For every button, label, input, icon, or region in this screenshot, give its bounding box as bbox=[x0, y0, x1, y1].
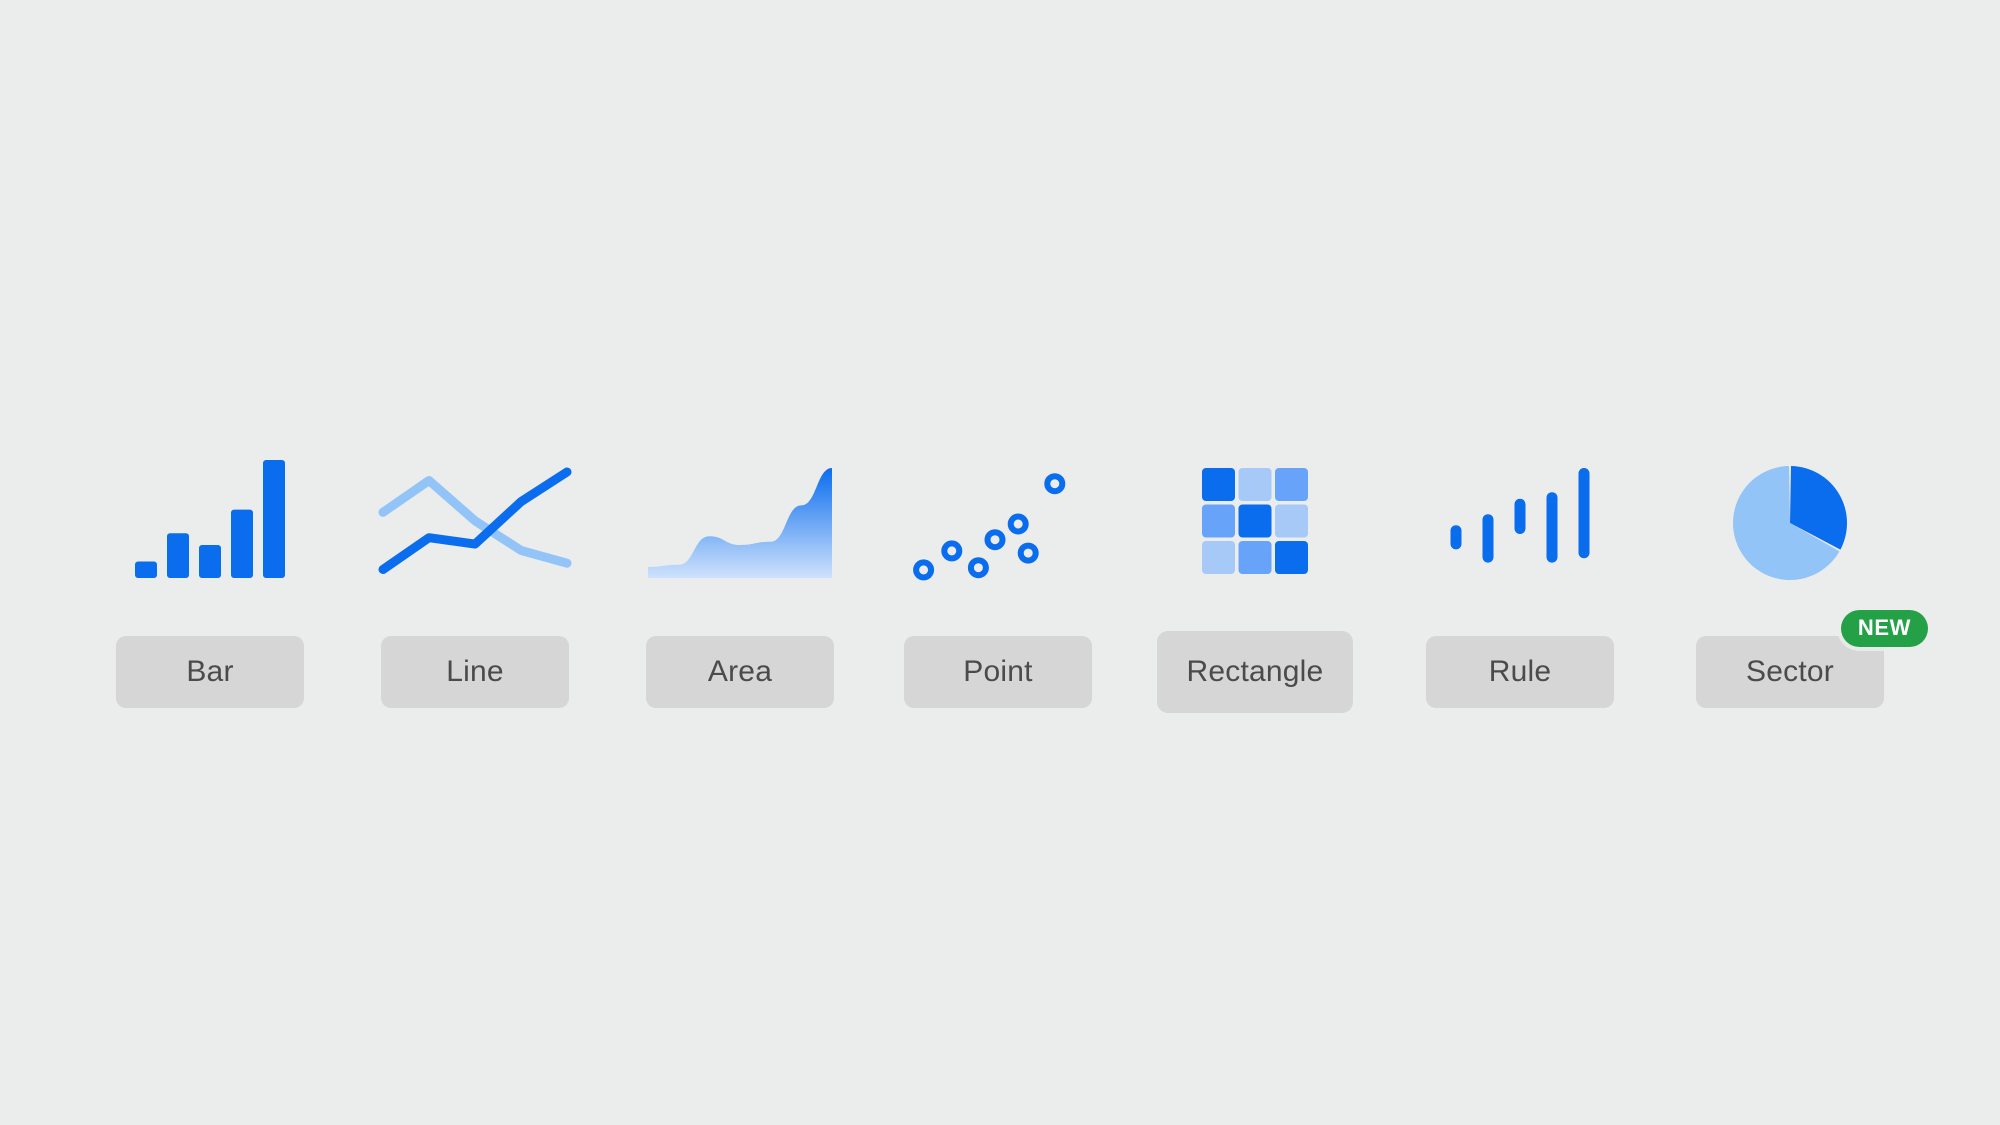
mark-button-rectangle[interactable]: Rectangle bbox=[1157, 631, 1353, 713]
rule-chart-icon[interactable] bbox=[1420, 450, 1620, 610]
bar-chart-icon[interactable] bbox=[110, 450, 310, 610]
rule-mark-3 bbox=[1547, 492, 1558, 562]
heatmap-cell-0-0 bbox=[1202, 468, 1235, 501]
scatter-point-chart-svg bbox=[898, 450, 1098, 610]
mark-button-label: Line bbox=[446, 657, 504, 687]
rule-mark-0 bbox=[1451, 525, 1462, 549]
heatmap-cell-0-2 bbox=[1275, 468, 1308, 501]
line-chart-svg bbox=[375, 450, 575, 610]
new-badge: NEW bbox=[1841, 610, 1928, 647]
mark-button-rule[interactable]: Rule bbox=[1426, 636, 1614, 708]
heatmap-cell-1-1 bbox=[1239, 505, 1272, 538]
heatmap-cell-2-1 bbox=[1239, 541, 1272, 574]
mark-button-label: Point bbox=[963, 657, 1032, 687]
scatter-point-4 bbox=[1011, 517, 1026, 532]
area-chart-icon[interactable] bbox=[640, 450, 840, 610]
mark-type-gallery: BarLineAreaPointRectangleRuleSectorNEW bbox=[0, 0, 2000, 1125]
scatter-point-2 bbox=[971, 560, 986, 575]
mark-card-bar[interactable]: Bar bbox=[110, 450, 310, 708]
rectangle-heatmap-icon[interactable] bbox=[1155, 450, 1355, 610]
mark-card-rule[interactable]: Rule bbox=[1420, 450, 1620, 708]
heatmap-cell-2-0 bbox=[1202, 541, 1235, 574]
mark-button-sector[interactable]: SectorNEW bbox=[1696, 636, 1884, 708]
bar-chart-svg bbox=[110, 450, 310, 610]
heatmap-cell-2-2 bbox=[1275, 541, 1308, 574]
scatter-point-0 bbox=[916, 562, 931, 577]
mark-button-line[interactable]: Line bbox=[381, 636, 569, 708]
rule-mark-1 bbox=[1483, 514, 1494, 562]
rectangle-heatmap-svg bbox=[1155, 450, 1355, 610]
heatmap-cell-0-1 bbox=[1239, 468, 1272, 501]
line-chart-icon[interactable] bbox=[375, 450, 575, 610]
scatter-point-3 bbox=[988, 532, 1003, 547]
rule-chart-svg bbox=[1420, 450, 1620, 610]
mark-card-rectangle[interactable]: Rectangle bbox=[1155, 450, 1355, 713]
mark-button-area[interactable]: Area bbox=[646, 636, 834, 708]
mark-card-point[interactable]: Point bbox=[898, 450, 1098, 708]
mark-card-sector[interactable]: SectorNEW bbox=[1690, 450, 1890, 708]
mark-button-label: Sector bbox=[1746, 657, 1834, 687]
area-chart-svg bbox=[640, 450, 840, 610]
mark-button-label: Rule bbox=[1489, 657, 1552, 687]
rule-mark-4 bbox=[1579, 468, 1590, 558]
scatter-point-1 bbox=[944, 543, 959, 558]
mark-button-label: Area bbox=[708, 657, 772, 687]
scatter-point-chart-icon[interactable] bbox=[898, 450, 1098, 610]
rule-mark-2 bbox=[1515, 499, 1526, 534]
mark-button-label: Bar bbox=[186, 657, 233, 687]
pie-sector-chart-svg bbox=[1690, 450, 1890, 610]
mark-button-point[interactable]: Point bbox=[904, 636, 1092, 708]
mark-card-area[interactable]: Area bbox=[640, 450, 840, 708]
scatter-point-5 bbox=[1021, 546, 1036, 561]
pie-sector-chart-icon[interactable] bbox=[1690, 450, 1890, 610]
mark-button-bar[interactable]: Bar bbox=[116, 636, 304, 708]
mark-card-line[interactable]: Line bbox=[375, 450, 575, 708]
heatmap-cell-1-2 bbox=[1275, 505, 1308, 538]
scatter-point-6 bbox=[1047, 476, 1062, 491]
mark-button-label: Rectangle bbox=[1187, 657, 1324, 687]
heatmap-cell-1-0 bbox=[1202, 505, 1235, 538]
